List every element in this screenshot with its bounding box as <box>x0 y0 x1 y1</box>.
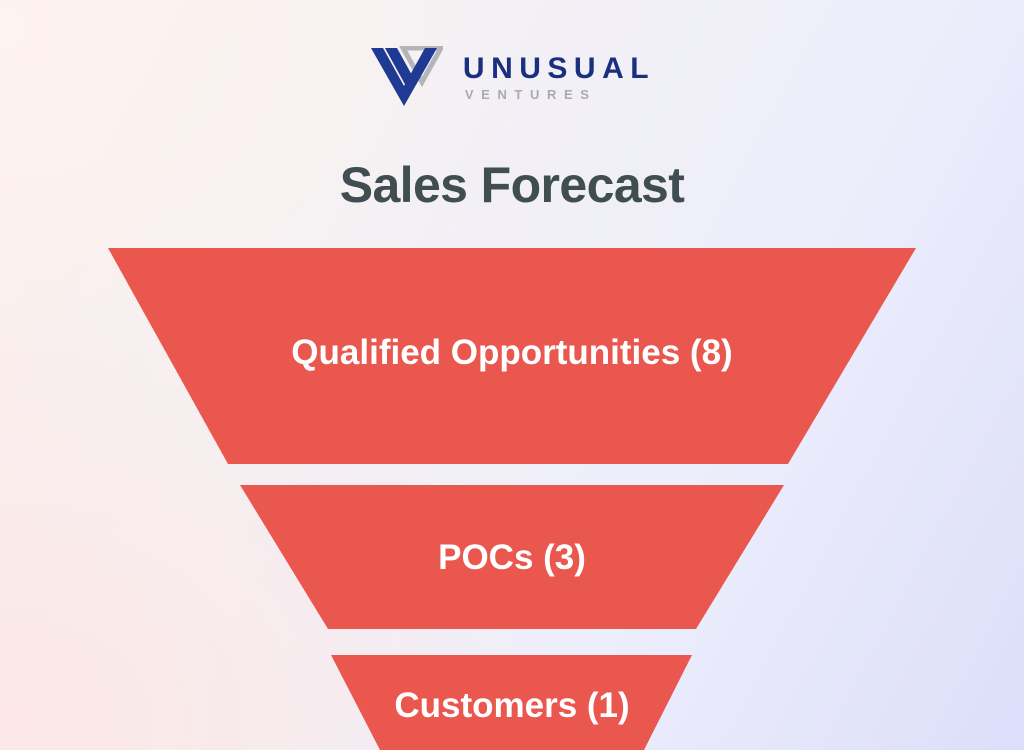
sales-funnel-chart: Qualified Opportunities (8) POCs (3) Cus… <box>0 240 1024 750</box>
sales-forecast-slide: UNUSUAL VENTURES Sales Forecast Qualifie… <box>0 0 1024 750</box>
funnel-stage-customers[interactable]: Customers (1) <box>331 655 692 750</box>
funnel-stage-label: Customers (1) <box>394 686 629 725</box>
funnel-stage-label: POCs (3) <box>438 538 586 577</box>
brand-name: UNUSUAL <box>463 54 655 85</box>
page-title: Sales Forecast <box>0 158 1024 213</box>
brand-subtitle: VENTURES <box>465 88 655 102</box>
unusual-ventures-v-logo-icon <box>369 46 443 108</box>
brand-logo: UNUSUAL VENTURES <box>0 44 1024 110</box>
funnel-svg: Qualified Opportunities (8) POCs (3) Cus… <box>0 240 1024 750</box>
funnel-stage-qualified-opportunities[interactable]: Qualified Opportunities (8) <box>108 248 916 464</box>
funnel-stage-pocs[interactable]: POCs (3) <box>240 485 784 629</box>
funnel-stage-label: Qualified Opportunities (8) <box>291 333 732 372</box>
brand-wordmark: UNUSUAL VENTURES <box>463 52 655 101</box>
